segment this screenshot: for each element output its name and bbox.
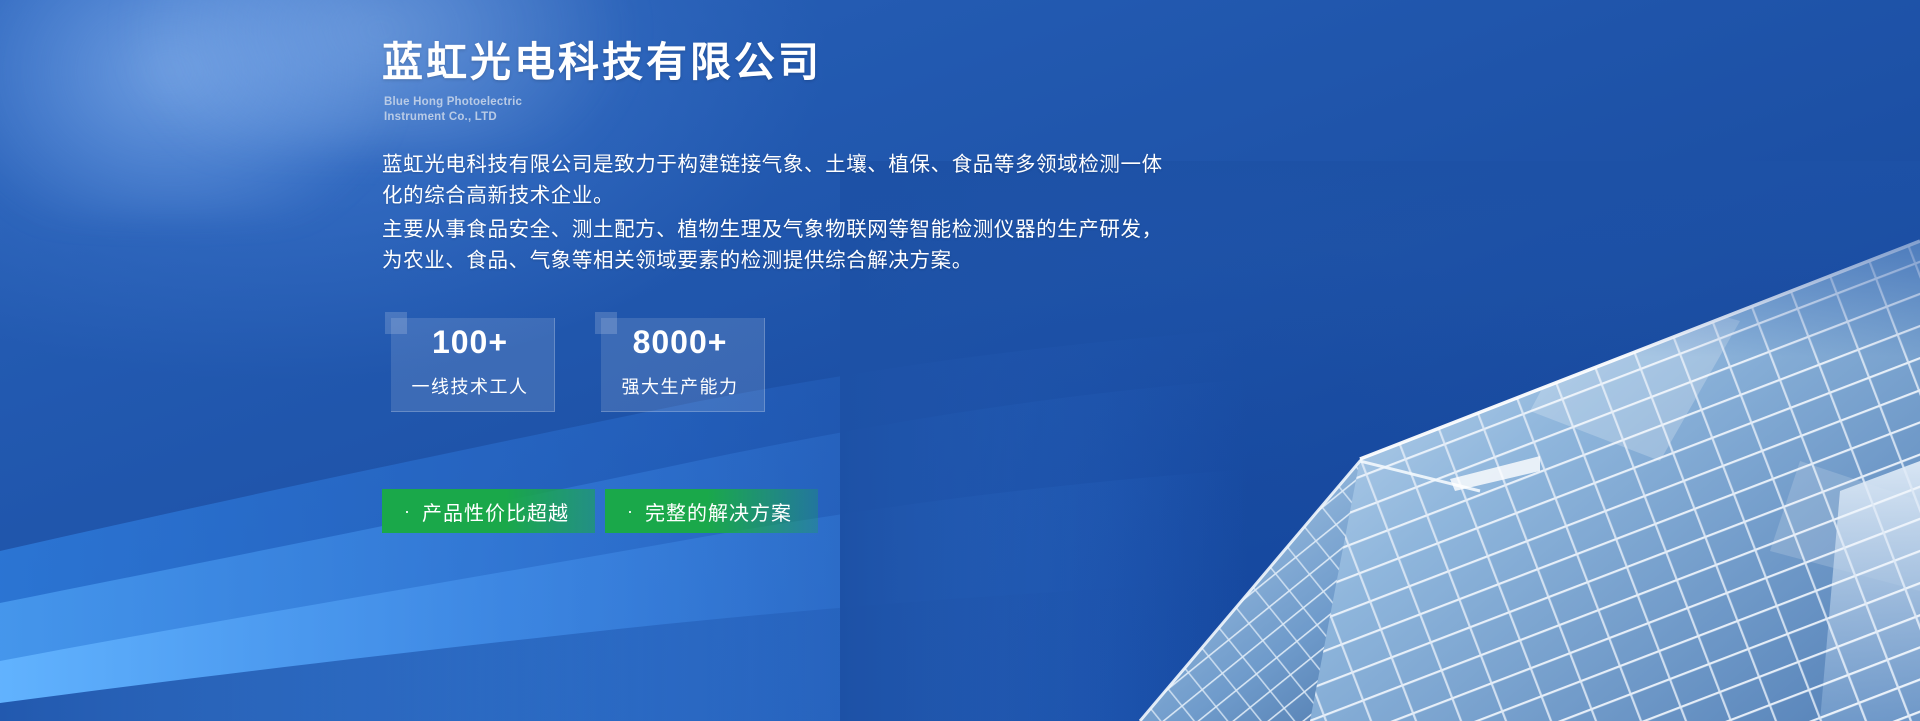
hero-banner: 蓝虹光电科技有限公司 Blue Hong Photoelectric Instr… [0, 0, 1920, 721]
stats-group: 100+ 一线技术工人 8000+ 强大生产能力 [385, 312, 765, 412]
stat-card-workers: 100+ 一线技术工人 [385, 312, 555, 412]
cloud-glow-decoration [0, 0, 400, 220]
page-title: 蓝虹光电科技有限公司 [382, 40, 822, 85]
banner-content: 蓝虹光电科技有限公司 Blue Hong Photoelectric Instr… [382, 0, 1582, 721]
stat-value: 8000+ [633, 324, 728, 361]
company-english-name: Blue Hong Photoelectric Instrument Co., … [384, 95, 522, 124]
feature-tag-label: 完整的解决方案 [645, 497, 792, 526]
intro-paragraph-2: 主要从事食品安全、测土配方、植物生理及气象物联网等智能检测仪器的生产研发，为农业… [382, 214, 1182, 276]
company-english-line-2: Instrument Co., LTD [384, 110, 522, 125]
bullet-icon: · [404, 502, 411, 520]
stat-label: 强大生产能力 [622, 373, 739, 399]
stat-value: 100+ [432, 324, 508, 361]
feature-tags-group: · 产品性价比超越 · 完整的解决方案 [382, 489, 818, 533]
feature-tag-solution[interactable]: · 完整的解决方案 [605, 489, 818, 533]
stat-label: 一线技术工人 [412, 373, 529, 399]
feature-tag-label: 产品性价比超越 [422, 497, 569, 526]
stat-card-capacity: 8000+ 强大生产能力 [595, 312, 765, 412]
feature-tag-value[interactable]: · 产品性价比超越 [382, 489, 595, 533]
intro-paragraph-1: 蓝虹光电科技有限公司是致力于构建链接气象、土壤、植保、食品等多领域检测一体化的综… [382, 149, 1182, 211]
bullet-icon: · [627, 502, 634, 520]
company-english-line-1: Blue Hong Photoelectric [384, 95, 522, 110]
